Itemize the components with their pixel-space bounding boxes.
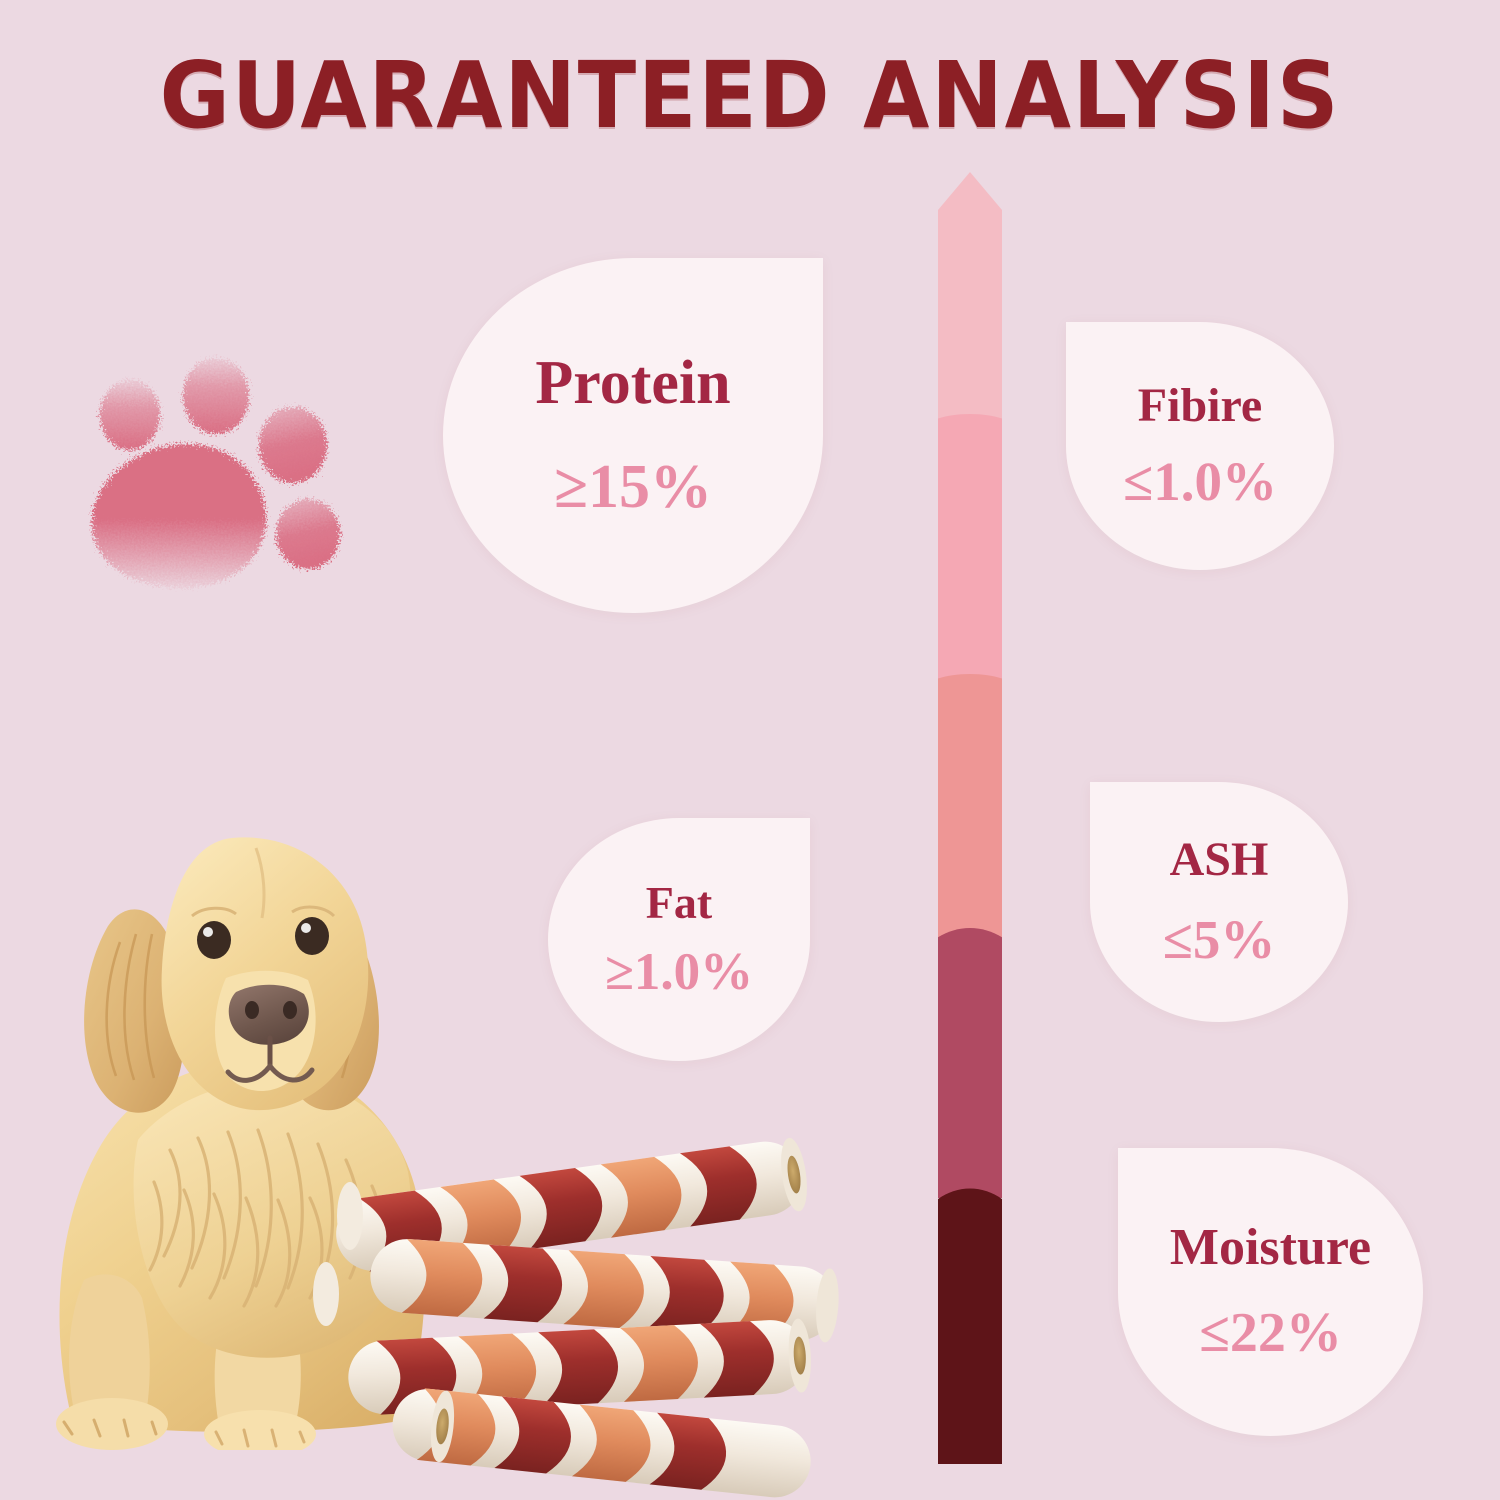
nutrient-name: Fibire bbox=[1138, 381, 1262, 431]
vertical-gradient-scale bbox=[934, 172, 1006, 1464]
nutrient-name: Moisture bbox=[1170, 1221, 1371, 1276]
paw-print-icon bbox=[78, 338, 368, 628]
bar-segment-5 bbox=[934, 1189, 1006, 1465]
bar-segment-4 bbox=[934, 928, 1006, 1198]
guaranteed-analysis-poster: GUARANTEED ANALYSIS bbox=[0, 0, 1500, 1500]
nutrient-badge-ash[interactable]: ASH ≤5% bbox=[1090, 782, 1348, 1022]
nutrient-value: ≤5% bbox=[1163, 911, 1276, 969]
nutrient-value: ≥15% bbox=[554, 455, 712, 520]
nutrient-badge-protein[interactable]: Protein ≥15% bbox=[443, 258, 823, 613]
nutrient-value: ≥1.0% bbox=[605, 945, 753, 1001]
nutrient-name: Protein bbox=[535, 351, 730, 416]
meat-wrapped-rawhide-treats bbox=[292, 1108, 872, 1500]
nutrient-badge-moisture[interactable]: Moisture ≤22% bbox=[1118, 1148, 1423, 1436]
bar-segment-1 bbox=[934, 172, 1006, 428]
bar-segment-3 bbox=[934, 674, 1006, 938]
nutrient-badge-fat[interactable]: Fat ≥1.0% bbox=[548, 818, 810, 1061]
bar-segment-2 bbox=[934, 414, 1006, 688]
nutrient-value: ≤1.0% bbox=[1123, 453, 1277, 511]
nutrient-value: ≤22% bbox=[1199, 1304, 1342, 1363]
page-title: GUARANTEED ANALYSIS bbox=[53, 42, 1448, 149]
nutrient-badge-fibire[interactable]: Fibire ≤1.0% bbox=[1066, 322, 1334, 570]
nutrient-name: ASH bbox=[1170, 835, 1269, 885]
nutrient-name: Fat bbox=[646, 879, 712, 927]
